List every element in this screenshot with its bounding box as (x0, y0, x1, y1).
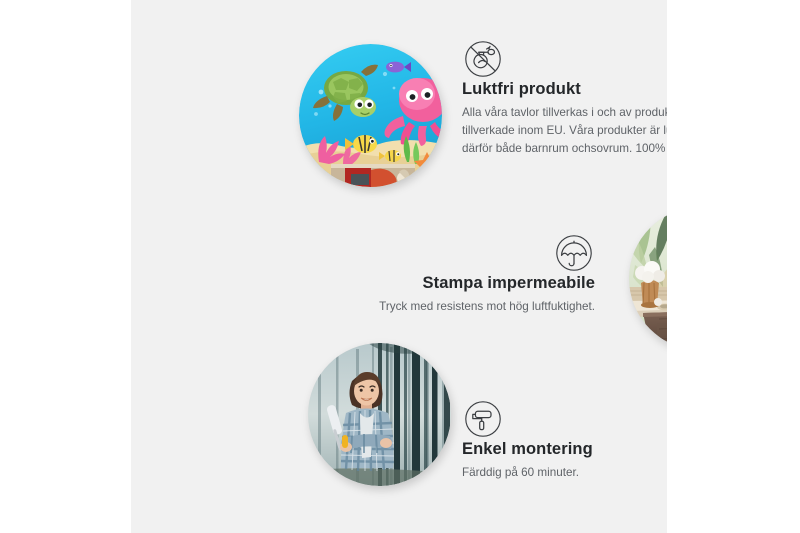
feature-title: Stampa impermeabile (347, 274, 595, 294)
bathroom-artwork (629, 207, 667, 350)
feature-description: Tryck med resistens mot hög luftfuktighe… (347, 298, 595, 316)
photo-bathroom-vanity (629, 207, 667, 350)
underwater-artwork (299, 44, 442, 187)
paint-roller-icon (462, 398, 504, 440)
feature-odour-free: Luktfri produkt Alla våra tavlor tillver… (462, 38, 667, 158)
feature-panel: Luktfri produkt Alla våra tavlor tillver… (131, 0, 667, 533)
no-odour-perfume-bottle-icon (462, 38, 504, 80)
photo-decorator-portrait (308, 343, 451, 486)
decorator-artwork (308, 343, 451, 486)
feature-description: Färddig på 60 minuter. (462, 464, 667, 482)
promo-graphic: Luktfri produkt Alla våra tavlor tillver… (0, 0, 800, 533)
umbrella-icon (553, 232, 595, 274)
feature-easy-mounting: Enkel montering Färddig på 60 minuter. (462, 398, 667, 482)
feature-waterproof-print: Stampa impermeabile Tryck med resistens … (347, 232, 595, 316)
feature-title: Enkel montering (462, 440, 667, 460)
feature-description: Alla våra tavlor tillverkas i och av pro… (462, 104, 667, 158)
photo-underwater-scene (299, 44, 442, 187)
feature-title: Luktfri produkt (462, 80, 667, 100)
